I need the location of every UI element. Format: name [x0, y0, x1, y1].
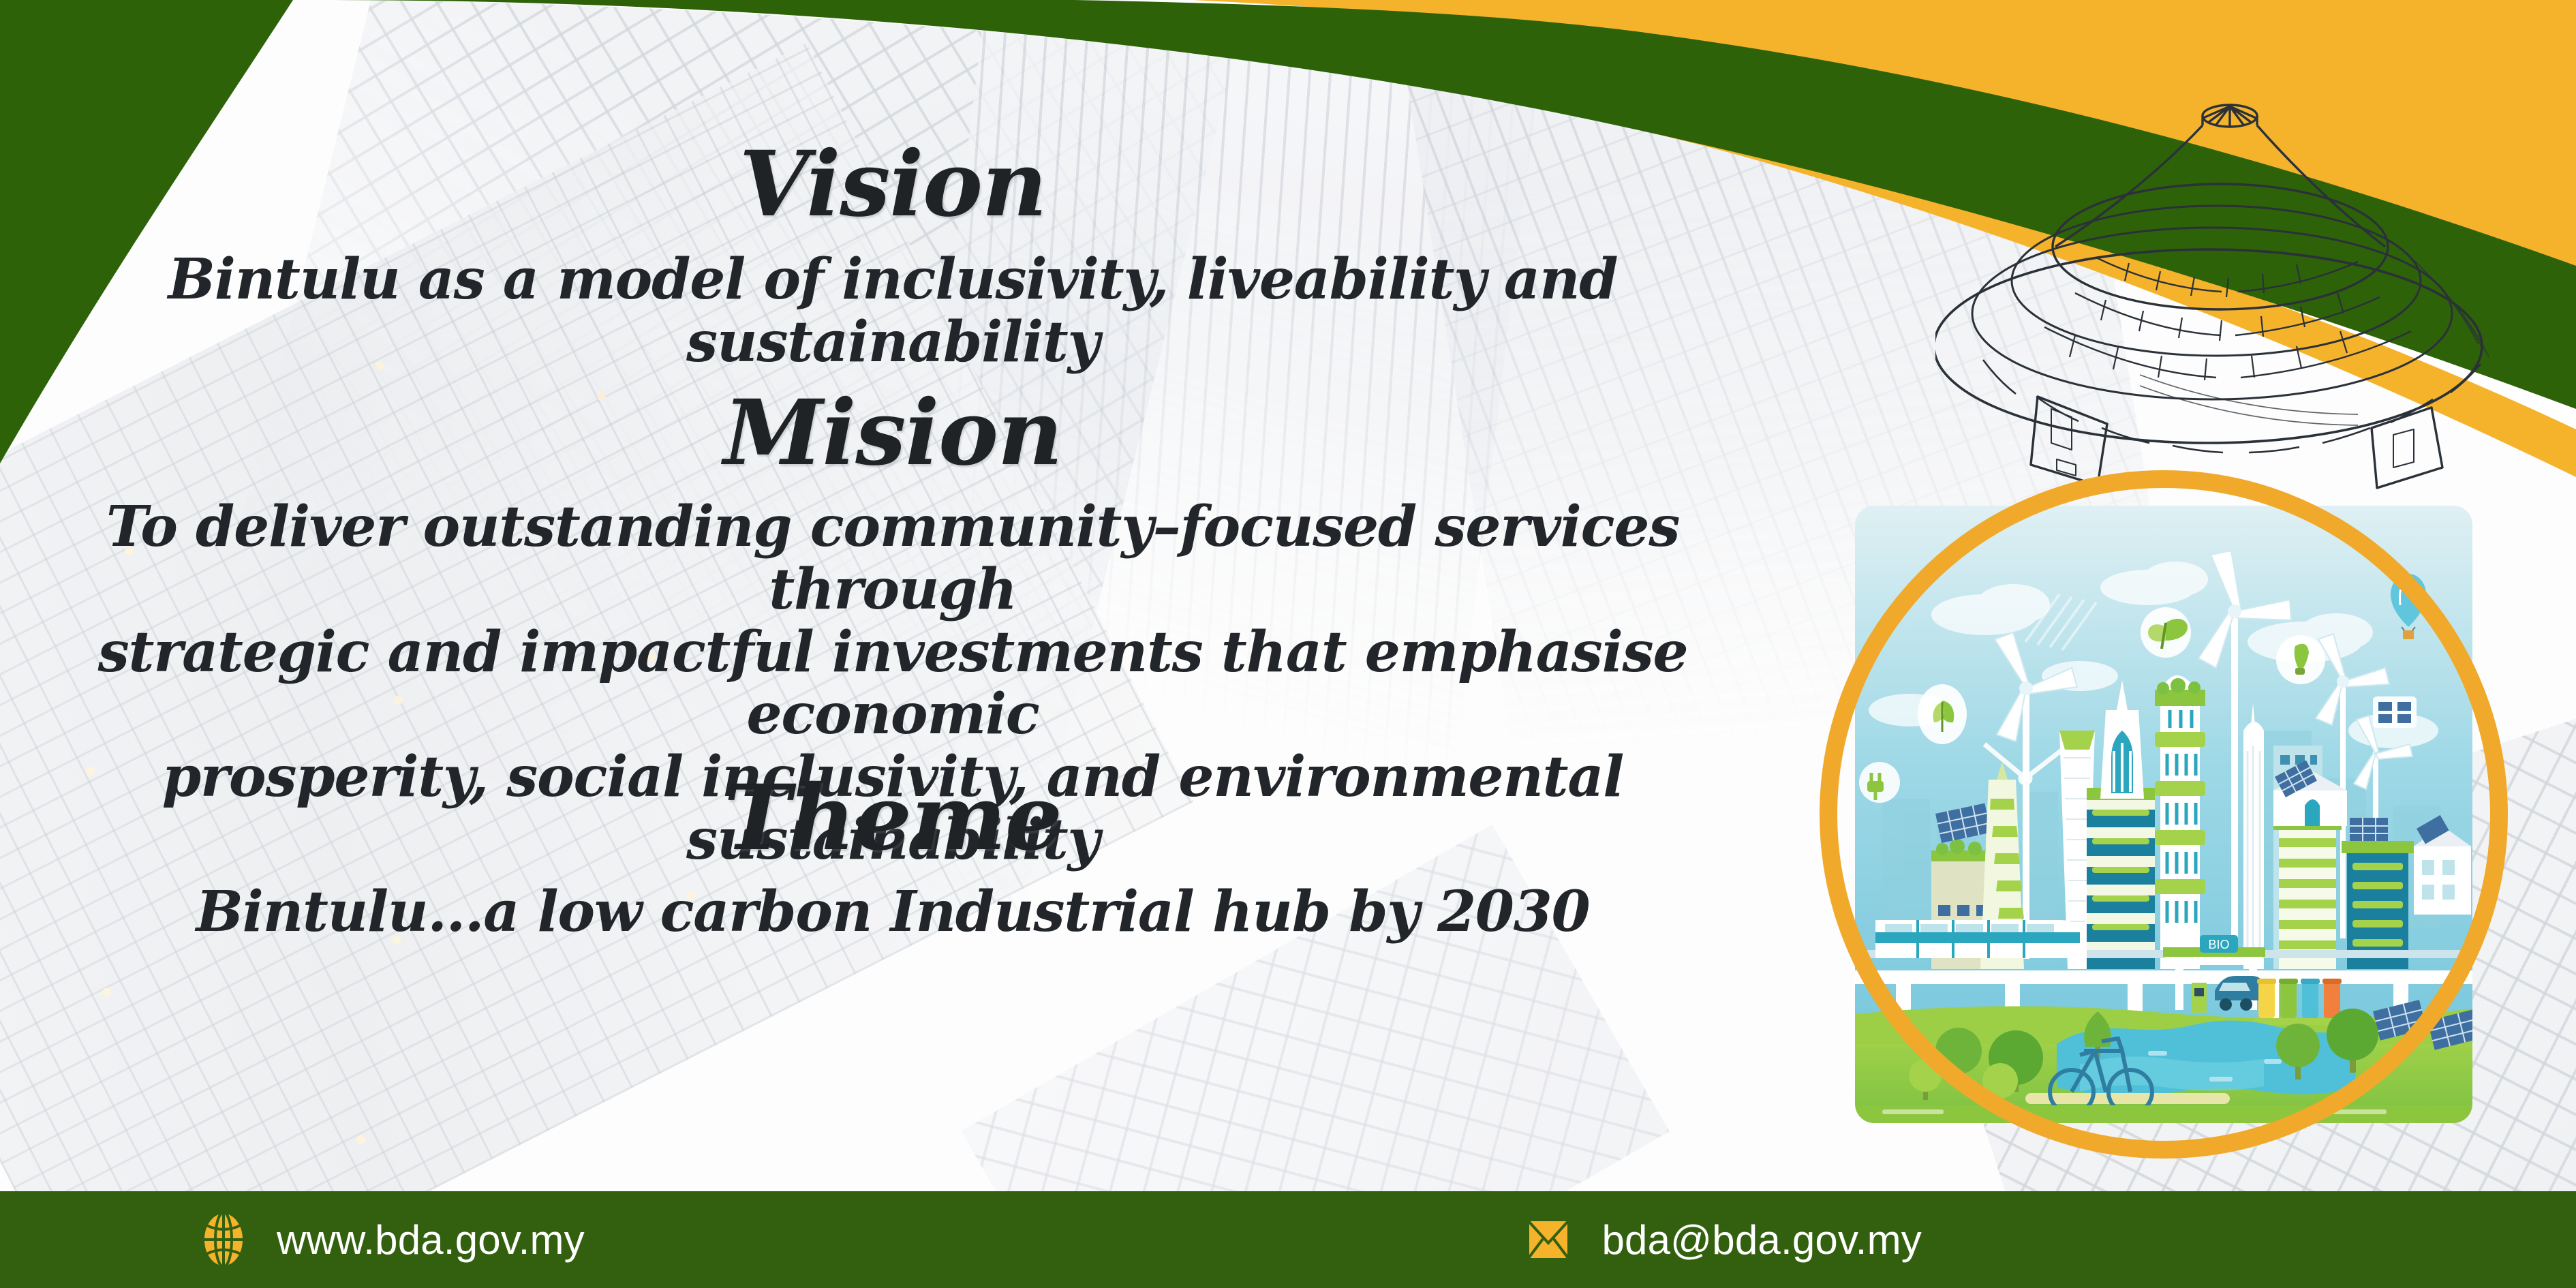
content-text-block: Vision Bintulu as a model of inclusivity… [0, 0, 1840, 1199]
footer-bar: www.bda.gov.my bda@bda.gov.my [0, 1191, 2576, 1288]
section-vision: Vision Bintulu as a model of inclusivity… [0, 140, 1785, 374]
theme-heading: Theme [0, 773, 1785, 863]
banner-root: BIO [0, 0, 2576, 1288]
bintulu-landmark-sketch-icon [1935, 89, 2576, 491]
mision-body-line-1: To deliver outstanding community–focused… [0, 496, 1785, 622]
vision-body-line-1: Bintulu as a model of inclusivity, livea… [0, 249, 1785, 374]
eco-city-medallion: BIO [1820, 470, 2508, 1159]
section-theme: Theme Bintulu...a low carbon Industrial … [0, 773, 1785, 944]
footer-email[interactable]: bda@bda.gov.my [1522, 1210, 1922, 1269]
mision-body-line-2: strategic and impactful investments that… [0, 622, 1785, 747]
email-label: bda@bda.gov.my [1601, 1216, 1922, 1263]
theme-body-line-1: Bintulu...a low carbon Industrial hub by… [0, 881, 1785, 944]
footer-website[interactable]: www.bda.gov.my [198, 1210, 585, 1269]
medallion-orange-ring [1820, 470, 2508, 1159]
globe-icon [198, 1210, 249, 1269]
mision-heading: Mision [0, 388, 1785, 478]
website-label: www.bda.gov.my [277, 1216, 585, 1263]
envelope-icon [1522, 1210, 1574, 1269]
vision-heading: Vision [0, 140, 1785, 230]
